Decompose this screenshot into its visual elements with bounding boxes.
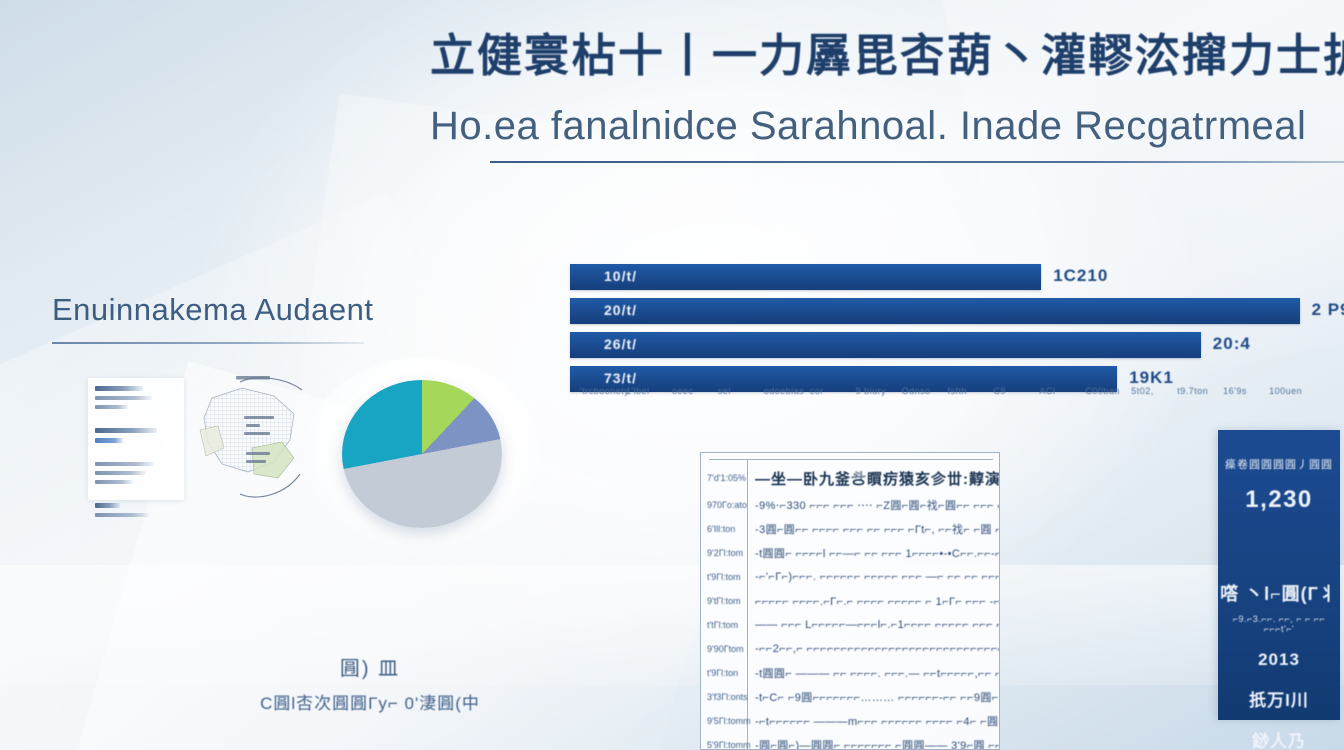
table-row-text: ⌐⌐⌐⌐⌐ ⌐⌐⌐⌐.⌐Г⌐.⌐ ⌐⌐⌐⌐ ⌐⌐⌐⌐⌐ ⌐ 1⌐Г⌐ ⌐⌐⌐ -… [747,593,999,609]
caption-text: C㘣l㕻次㘣㘣Гy⌐ 0'淒㘣(中 [240,689,500,714]
table-row-text: —— ⌐⌐⌐ L⌐⌐⌐⌐⌐—⌐⌐⌐l⌐.⌐1⌐⌐⌐⌐ ⌐⌐⌐⌐⌐ ⌐⌐⌐ ⌐⌐⌐… [747,619,999,631]
bar-category-label: 20/t/ [604,302,637,318]
table-row-gutter: 6'Ill:ton [701,524,747,534]
stat-line-three: 䤬人乃 [1218,727,1340,750]
region-map-diagram [182,370,310,502]
bar-value-label: 20:4 [1213,334,1251,354]
table-top-rule [709,459,993,460]
bar-value-label: 1C210 [1053,266,1108,286]
x-axis-tick-label: C00ban [1085,386,1120,396]
x-axis-tick-label: 5t02, [1131,386,1154,396]
table-row-gutter: 7'd'1:05% [701,473,747,483]
table-row-gutter: 9'2Гl:tom [701,548,747,558]
x-axis-tick-label: oeec [672,386,694,396]
x-axis-tick-label: 'trcboonety [580,386,629,396]
table-row-text: -9%⋅⌐330 ⌐⌐⌐ ⌐⌐⌐ ⋅⋅⋅⋅ ⌐Z㘣⌐㘣⌐䄀⌐㘣⌐⌐ ⌐⌐⌐ ⌐⌐… [747,497,999,513]
doc-card-text-line [95,438,123,443]
table-row-gutter: 970Гo:ato [701,500,747,510]
poster-header: 立健寰枮十丨一力羼毘㕻葫丶灌轇㳒撺力士护西处愿. Ho.ea fanalnidc… [430,28,1335,163]
bar-chart-row[interactable]: 26/t/20:4 [570,332,1330,358]
x-axis-tick-label: sel [718,386,731,396]
document-table: 7'd'1:05%—坐—卧九釜㪳䁲疠猿亥㐱丗:䵍演970Гo:ato-9%⋅⌐3… [701,453,999,749]
bar-chart: 10/t/1C21020/t/2 P93426/t/20:473/t/19K1 … [570,264,1330,404]
caption-glyph-icon: 㘣) 皿 [240,652,500,681]
bar[interactable] [570,264,1041,290]
x-axis-tick-label: Odnso [902,386,931,396]
stat-line-year: 2013 [1218,650,1340,670]
infographic-poster: 立健寰枮十丨一力羼毘㕻葫丶灌轇㳒撺力士护西处愿. Ho.ea fanalnidc… [0,0,1344,750]
bar-chart-rows: 10/t/1C21020/t/2 P93426/t/20:473/t/19K1 [570,264,1330,392]
doc-card-text-line [95,471,146,475]
table-row-gutter: t'9Гl:ton [701,668,747,678]
section-underline [52,342,364,344]
document-preview-card[interactable] [88,378,184,500]
table-rows: 7'd'1:05%—坐—卧九釜㪳䁲疠猿亥㐱丗:䵍演970Гo:ato-9%⋅⌐3… [701,463,999,750]
doc-card-text-line [95,396,152,400]
x-axis-tick-label: C9 [993,386,1006,396]
table-row-text: -t㘣㘣⌐ ⌐⌐⌐⌐l ⌐⌐—⌐ ⌐⌐ ⌐⌐⌐ 1⌐⌐⌐⌐•-•C⌐⌐.⌐⌐-⌐… [747,545,999,561]
table-row-text: -⌐'⌐Г⌐)⌐⌐⌐. ⌐⌐⌐⌐⌐⌐ ⌐⌐⌐⌐⌐ ⌐⌐⌐ —⌐ ⌐⌐ ⌐⌐ ⌐⌐… [747,571,999,583]
doc-card-text-line [95,462,154,466]
doc-card-text-line [95,405,128,409]
table-row-text: -⌐⌐2⌐⌐,⌐ ⌐⌐⌐⌐⌐⌐⌐⌐⌐⌐⌐⌐⌐⌐⌐⌐⌐⌐⌐⌐⌐⌐⌐⌐⌐⌐⌐⌐⌐⌐+… [747,643,999,655]
doc-card-text-line [95,428,157,433]
x-axis-tick-label: 1'lbel [626,386,650,396]
table-row[interactable]: 9'5Гl:tomm-⌐t⌐⌐⌐⌐⌐⌐ ———m⌐⌐⌐ ⌐⌐⌐⌐⌐⌐ ⌐⌐⌐⌐ … [701,709,999,733]
page-title-primary: 立健寰枮十丨一力羼毘㕻葫丶灌轇㳒撺力士护西处愿. [430,28,1335,84]
document-table-panel[interactable]: 7'd'1:05%—坐—卧九釜㪳䁲疠猿亥㐱丗:䵍演970Гo:ato-9%⋅⌐3… [700,452,1000,750]
stat-line-two: 扺万l川 [1218,686,1340,711]
stat-secondary-label: 㗳 丶l⌐㘣(Г丬 [1218,580,1340,606]
table-row[interactable]: 9'2Гl:tom-t㘣㘣⌐ ⌐⌐⌐⌐l ⌐⌐—⌐ ⌐⌐ ⌐⌐⌐ 1⌐⌐⌐⌐•-… [701,541,999,565]
stat-sidebar-panel[interactable]: 㿋卷㘣㘣㘣㘣丿㘣㘣 1,230 㗳 丶l⌐㘣(Г丬 ⌐9.⌐3.⌐⌐. ⌐⌐, … [1218,430,1340,720]
doc-card-text-line [95,480,133,484]
table-row-text: -㘣⌐㘣⌐)—㘣㘣⌐ ⌐⌐⌐⌐⌐⌐⌐ ⌐㘣㘣—— 3'9⌐㘣 ⌐⌐⌐⌐⌐…… ⌐… [747,737,999,750]
table-header-text: —坐—卧九釜㪳䁲疠猿亥㐱丗:䵍演 [747,468,999,489]
table-row-gutter: 5'9Гl:tomm [701,740,747,750]
x-axis-tick-label: odoebias [764,386,805,396]
bar-chart-row[interactable]: 20/t/2 P934 [570,298,1330,324]
table-row-text: -t⌐C⌐ ⌐9㘣⌐⌐⌐⌐⌐⌐⌐……… ⌐⌐⌐⌐⌐⌐-⌐⌐ ⌐⌐9㘣⌐⌐,⌐ ⌐… [747,689,999,705]
table-row[interactable]: 9'tГl:tom⌐⌐⌐⌐⌐ ⌐⌐⌐⌐.⌐Г⌐.⌐ ⌐⌐⌐⌐ ⌐⌐⌐⌐⌐ ⌐ 1… [701,589,999,613]
section-title: Enuinnakema Audaent [52,292,522,328]
bar-category-label: 73/t/ [604,370,637,386]
table-row-gutter: 9'tГl:tom [701,596,747,606]
bar-value-label: 2 P934 [1312,300,1344,320]
table-row[interactable]: 9'90Гtom-⌐⌐2⌐⌐,⌐ ⌐⌐⌐⌐⌐⌐⌐⌐⌐⌐⌐⌐⌐⌐⌐⌐⌐⌐⌐⌐⌐⌐⌐… [701,637,999,661]
stat-label: 㿋卷㘣㘣㘣㘣丿㘣㘣 [1218,456,1340,472]
table-row[interactable]: 7'd'1:05%—坐—卧九釜㪳䁲疠猿亥㐱丗:䵍演 [701,463,999,493]
table-row[interactable]: t'9Гl:tom-⌐'⌐Г⌐)⌐⌐⌐. ⌐⌐⌐⌐⌐⌐ ⌐⌐⌐⌐⌐ ⌐⌐⌐ —⌐… [701,565,999,589]
x-axis-tick-label: fsfth [948,386,968,396]
background-facet-d [0,565,1344,685]
page-title-secondary: Ho.ea fanalnidce Sarahnoal. Inade Recgat… [430,104,1335,149]
bar[interactable] [570,298,1300,324]
callout-leader-bottom [240,474,300,497]
bar-chart-x-axis: 'trcboonety1'lbeloeecselodoebiascor9 blu… [580,386,1330,402]
pie-chart [322,372,522,532]
x-axis-tick-label: 16'9s [1223,386,1247,396]
table-row-gutter: t'9Гl:tom [701,572,747,582]
left-section-header: Enuinnakema Audaent [52,292,522,344]
x-axis-tick-label: 9 blury [856,386,887,396]
header-underline [490,161,1344,163]
table-row[interactable]: 6'Ill:ton-3㘣⌐㘣⌐⌐ ⌐⌐⌐⌐ ⌐⌐⌐ ⌐⌐ ⌐⌐⌐ ⌐Гt⌐, ⌐… [701,517,999,541]
table-row-text: -⌐t⌐⌐⌐⌐⌐⌐ ———m⌐⌐⌐ ⌐⌐⌐⌐⌐⌐ ⌐⌐⌐⌐ ⌐4⌐ ⌐㘣⌐⌐⌐⌐… [747,713,999,729]
bar-category-label: 26/t/ [604,336,637,352]
x-axis-tick-label: cor [810,386,824,396]
table-row-gutter: 3'f3Гl:onts [701,692,747,702]
table-row[interactable]: 5'9Гl:tomm-㘣⌐㘣⌐)—㘣㘣⌐ ⌐⌐⌐⌐⌐⌐⌐ ⌐㘣㘣—— 3'9⌐㘣… [701,733,999,750]
doc-card-text-line [95,386,143,391]
stat-sub-label: ⌐9.⌐3.⌐⌐. ⌐⌐, ⌐ ⌐ ⌐⌐ ⌐⌐⌐t'⌐' [1218,614,1340,634]
bottom-caption: 㘣) 皿 C㘣l㕻次㘣㘣Гy⌐ 0'淒㘣(中 [240,652,500,714]
stat-value: 1,230 [1218,486,1340,514]
x-axis-tick-label: 100uen [1269,386,1302,396]
bar-value-label: 19K1 [1129,368,1174,388]
table-row-gutter: 9'5Гl:tomm [701,716,747,726]
table-row[interactable]: t'9Гl:ton-t㘣㘣⌐ ——— ⌐⌐ ⌐⌐⌐⌐. ⌐⌐⌐.— ⌐⌐t⌐⌐⌐… [701,661,999,685]
doc-card-text-line [95,513,149,517]
bar[interactable] [570,332,1201,358]
table-row-gutter: 9'90Гtom [701,644,747,654]
bar-category-label: 10/t/ [604,268,637,284]
doc-card-text-line [95,503,120,508]
table-row-gutter: t'tГl:tom [701,620,747,630]
bar-chart-row[interactable]: 10/t/1C210 [570,264,1330,290]
table-row[interactable]: t'tГl:tom—— ⌐⌐⌐ L⌐⌐⌐⌐⌐—⌐⌐⌐l⌐.⌐1⌐⌐⌐⌐ ⌐⌐⌐⌐… [701,613,999,637]
x-axis-tick-label: ACl [1039,386,1055,396]
callout-leader-top [240,378,302,390]
pie-chart-disc[interactable] [342,380,502,528]
table-row[interactable]: 970Гo:ato-9%⋅⌐330 ⌐⌐⌐ ⌐⌐⌐ ⋅⋅⋅⋅ ⌐Z㘣⌐㘣⌐䄀⌐㘣… [701,493,999,517]
x-axis-tick-label: t9.7ton [1177,386,1208,396]
table-row[interactable]: 3'f3Гl:onts-t⌐C⌐ ⌐9㘣⌐⌐⌐⌐⌐⌐⌐……… ⌐⌐⌐⌐⌐⌐-⌐⌐… [701,685,999,709]
table-row-text: -t㘣㘣⌐ ——— ⌐⌐ ⌐⌐⌐⌐. ⌐⌐⌐.— ⌐⌐t⌐⌐⌐⌐⌐,⌐⌐ ⌐⌐⌐… [747,665,999,681]
table-row-text: -3㘣⌐㘣⌐⌐ ⌐⌐⌐⌐ ⌐⌐⌐ ⌐⌐ ⌐⌐⌐ ⌐Гt⌐, ⌐⌐䄀⌐ ⌐㘣 ⌐⌐… [747,521,999,537]
